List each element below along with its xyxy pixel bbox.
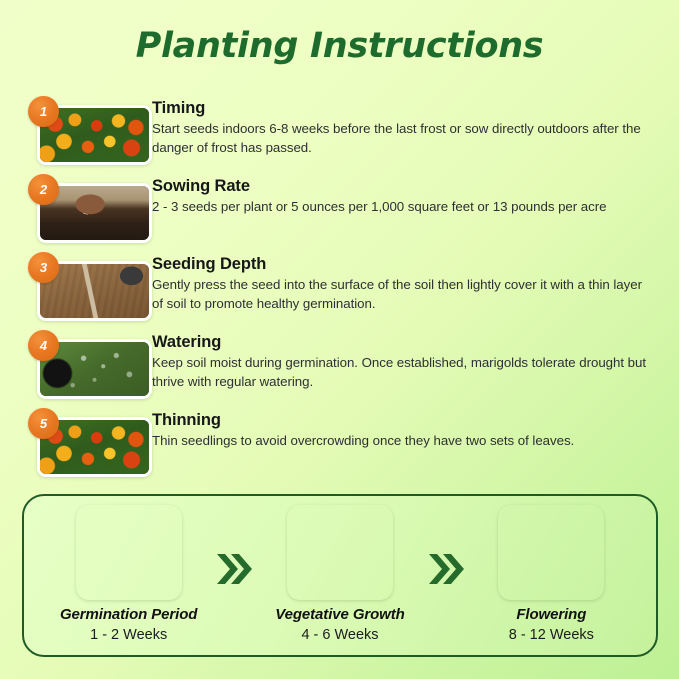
step-description-3: Gently press the seed into the surface o… xyxy=(152,276,655,313)
step-media-3: 3 xyxy=(0,252,152,321)
timeline-stage-germination: Germination Period 1 - 2 Weeks xyxy=(46,505,211,645)
step-text-3: Seeding Depth Gently press the seed into… xyxy=(152,252,679,314)
step-media-4: 4 xyxy=(0,330,152,399)
step-title-5: Thinning xyxy=(152,410,655,430)
steps-list: 1 Timing Start seeds indoors 6-8 weeks b… xyxy=(0,96,679,486)
germination-duration: 1 - 2 Weeks xyxy=(46,626,211,646)
growth-timeline-panel: Germination Period 1 - 2 Weeks Vegetativ… xyxy=(22,494,658,657)
step-title-3: Seeding Depth xyxy=(152,254,655,274)
flowering-thumbnail xyxy=(498,505,604,600)
step-media-5: 5 xyxy=(0,408,152,477)
timeline-stage-flowering: Flowering 8 - 12 Weeks xyxy=(469,505,634,645)
germination-thumbnail xyxy=(76,505,182,600)
step-media-2: 2 xyxy=(0,174,152,243)
step-title-1: Timing xyxy=(152,98,655,118)
flowering-label: Flowering xyxy=(469,606,634,625)
step-number-badge-5: 5 xyxy=(28,408,59,439)
step-description-4: Keep soil moist during germination. Once… xyxy=(152,354,655,391)
step-item-1: 1 Timing Start seeds indoors 6-8 weeks b… xyxy=(0,96,679,174)
step-number-badge-1: 1 xyxy=(28,96,59,127)
double-chevron-right-icon-1 xyxy=(211,550,257,588)
step-description-2: 2 - 3 seeds per plant or 5 ounces per 1,… xyxy=(152,198,655,217)
germination-label: Germination Period xyxy=(46,606,211,625)
step-description-5: Thin seedlings to avoid overcrowding onc… xyxy=(152,432,655,451)
double-chevron-right-icon-2 xyxy=(423,550,469,588)
step-title-2: Sowing Rate xyxy=(152,176,655,196)
step-media-1: 1 xyxy=(0,96,152,165)
vegetative-duration: 4 - 6 Weeks xyxy=(257,626,422,646)
step-number-badge-4: 4 xyxy=(28,330,59,361)
step-text-1: Timing Start seeds indoors 6-8 weeks bef… xyxy=(152,96,679,158)
step-text-2: Sowing Rate 2 - 3 seeds per plant or 5 o… xyxy=(152,174,679,217)
step-number-badge-3: 3 xyxy=(28,252,59,283)
vegetative-thumbnail xyxy=(287,505,393,600)
step-number-badge-2: 2 xyxy=(28,174,59,205)
flowering-duration: 8 - 12 Weeks xyxy=(469,626,634,646)
step-item-5: 5 Thinning Thin seedlings to avoid overc… xyxy=(0,408,679,486)
step-description-1: Start seeds indoors 6-8 weeks before the… xyxy=(152,120,655,157)
step-item-2: 2 Sowing Rate 2 - 3 seeds per plant or 5… xyxy=(0,174,679,252)
page-title: Planting Instructions xyxy=(0,26,679,66)
planting-instructions-infographic: Planting Instructions 1 Timing Start see… xyxy=(0,0,679,679)
step-text-4: Watering Keep soil moist during germinat… xyxy=(152,330,679,392)
step-text-5: Thinning Thin seedlings to avoid overcro… xyxy=(152,408,679,451)
step-item-3: 3 Seeding Depth Gently press the seed in… xyxy=(0,252,679,330)
step-item-4: 4 Watering Keep soil moist during germin… xyxy=(0,330,679,408)
timeline-stage-vegetative: Vegetative Growth 4 - 6 Weeks xyxy=(257,505,422,645)
step-title-4: Watering xyxy=(152,332,655,352)
vegetative-label: Vegetative Growth xyxy=(257,606,422,625)
